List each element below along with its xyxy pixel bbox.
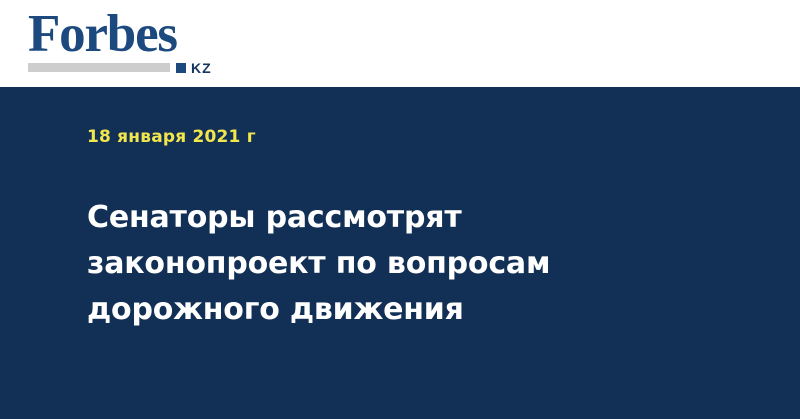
article-hero: 18 января 2021 г Сенаторы рассмотрят зак…: [0, 87, 800, 419]
logo-underline-bar: [28, 63, 170, 72]
forbes-kz-logo[interactable]: Forbes KZ: [28, 12, 228, 76]
logo-square-icon: [176, 63, 186, 73]
article-date: 18 января 2021 г: [87, 127, 256, 147]
article-card: Forbes KZ 18 января 2021 г Сенаторы расс…: [0, 0, 800, 419]
title-line-2: законопроект по вопросам: [87, 241, 607, 287]
site-header: Forbes KZ: [0, 0, 800, 87]
page-title: Сенаторы рассмотрят законопроект по вопр…: [87, 195, 607, 333]
forbes-wordmark: Forbes: [28, 8, 177, 61]
logo-kz-suffix: KZ: [191, 61, 212, 75]
title-line-1: Сенаторы рассмотрят: [87, 195, 607, 241]
title-line-3: дорожного движения: [87, 287, 607, 333]
